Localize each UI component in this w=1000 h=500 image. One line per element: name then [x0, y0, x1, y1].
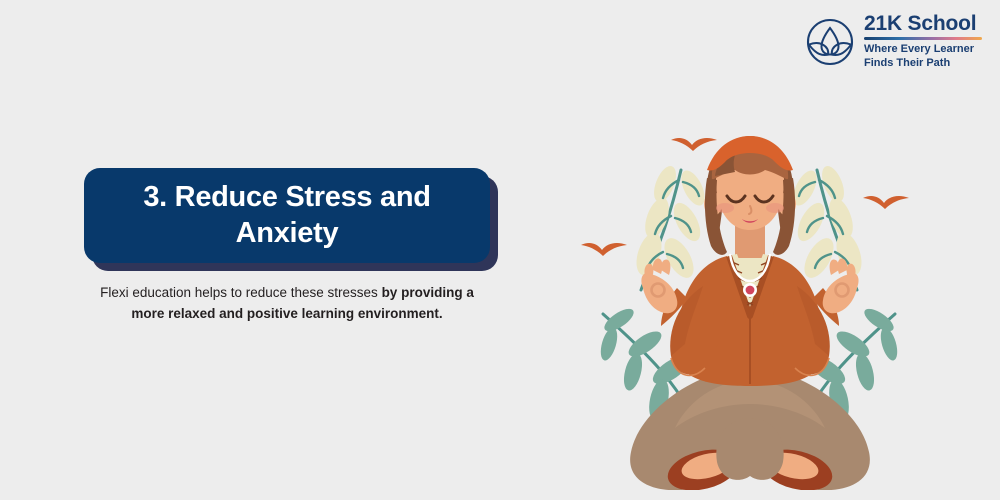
- meditation-scene-svg: [575, 118, 925, 490]
- brand-tagline-line1: Where Every Learner: [864, 43, 974, 55]
- finger-left-3: [661, 260, 671, 275]
- brand-name: 21K School: [864, 13, 976, 35]
- heading-banner: 3. Reduce Stress and Anxiety: [84, 168, 490, 263]
- heading-banner-wrapper: 3. Reduce Stress and Anxiety: [84, 168, 490, 263]
- page-title: 3. Reduce Stress and Anxiety: [98, 180, 476, 251]
- brand-logo: 21K School Where Every Learner Finds The…: [806, 13, 982, 71]
- finger-right-3: [830, 260, 840, 275]
- slide-canvas: 21K School Where Every Learner Finds The…: [0, 0, 1000, 500]
- neck: [735, 226, 765, 262]
- blush-right: [766, 203, 784, 213]
- brand-gradient-rule: [864, 37, 982, 40]
- pendant-stone: [746, 286, 755, 295]
- bird-left-icon: [581, 243, 627, 256]
- branch-cream-left: [632, 163, 710, 290]
- body-lead-text: Flexi education helps to reduce these st…: [100, 285, 381, 300]
- hand-right: [823, 273, 859, 313]
- bird-top-icon: [671, 138, 717, 151]
- body-paragraph: Flexi education helps to reduce these st…: [84, 283, 490, 325]
- brand-text-block: 21K School Where Every Learner Finds The…: [864, 13, 982, 71]
- brand-tagline-line2: Finds Their Path: [864, 57, 950, 69]
- brand-tagline: Where Every Learner Finds Their Path: [864, 43, 974, 71]
- woman-meditating-illustration: [575, 118, 925, 490]
- hand-left: [641, 273, 677, 313]
- blush-left: [716, 203, 734, 213]
- bird-right-icon: [863, 196, 909, 209]
- lotus-circle-logo-icon: [806, 18, 854, 66]
